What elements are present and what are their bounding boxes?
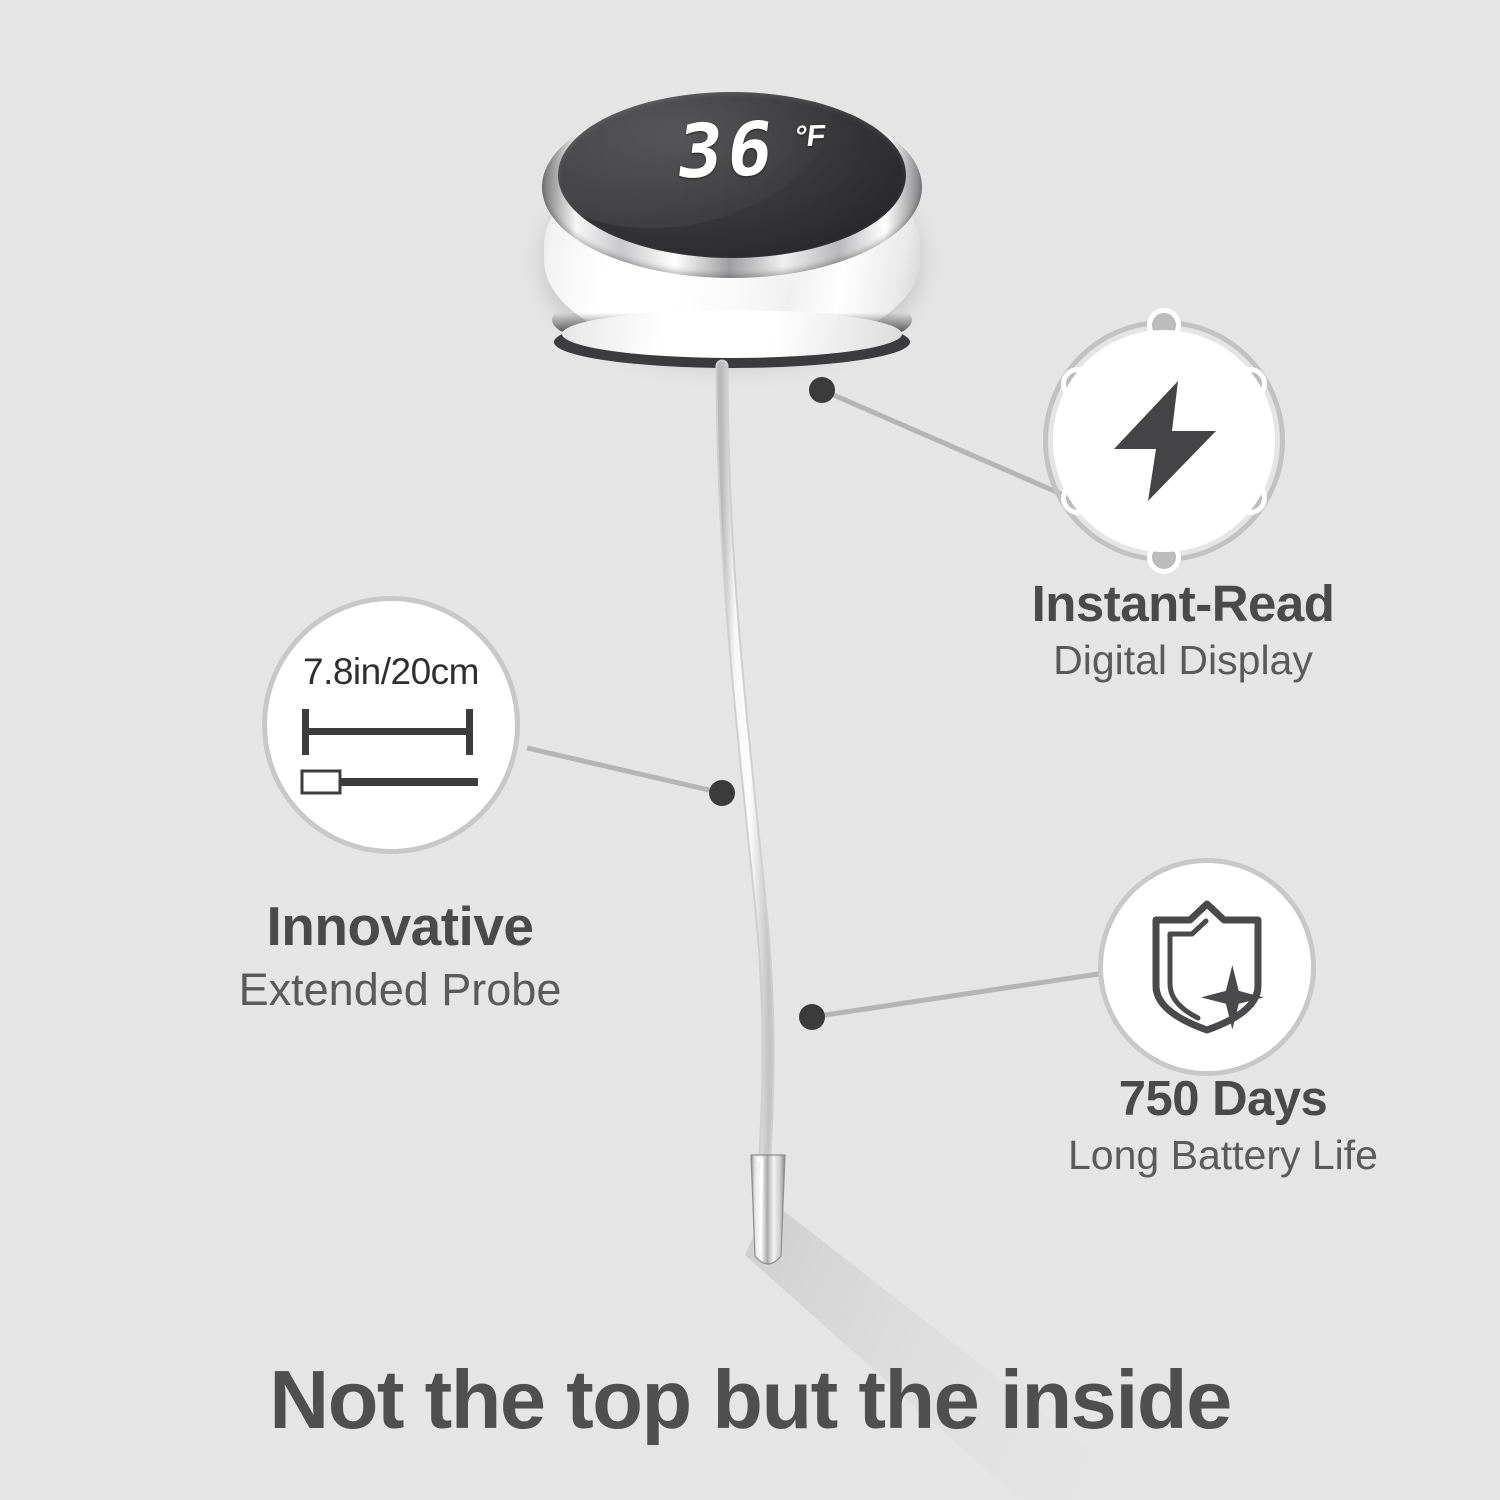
device-glass-top: 36 °F	[558, 92, 906, 258]
feature-title-battery-life: 750 Days	[1013, 1074, 1433, 1125]
product-infographic: 36 °F	[0, 0, 1500, 1500]
device-body-lower	[562, 310, 902, 358]
lightning-bolt-icon	[1104, 377, 1224, 505]
feature-subtitle-instant-read: Digital Display	[968, 638, 1398, 684]
probe-shadow	[745, 1200, 1180, 1500]
instant-read-icon-circle	[1053, 330, 1275, 552]
anchor-dot-battery	[799, 1004, 825, 1030]
leader-line-battery	[812, 973, 1105, 1017]
feature-title-extended-probe: Innovative	[150, 898, 650, 955]
probe-dimension-label: 7.8in/20cm	[303, 651, 479, 693]
feature-instant-read: Instant-Read Digital Display	[968, 577, 1398, 684]
temperature-unit: °F	[793, 119, 828, 154]
feature-subtitle-battery-life: Long Battery Life	[1013, 1133, 1433, 1179]
probe-tip-highlight	[757, 1160, 762, 1252]
leader-line-instant-read	[822, 390, 1075, 500]
anchor-dot-instant-read	[809, 377, 835, 403]
feature-extended-probe: Innovative Extended Probe	[150, 898, 650, 1016]
probe-dimension-icon	[298, 707, 484, 799]
feature-subtitle-extended-probe: Extended Probe	[150, 965, 650, 1015]
leader-line-extended-probe	[527, 748, 722, 793]
temperature-value: 36	[673, 115, 781, 186]
shield-sparkle-icon	[1146, 900, 1268, 1034]
anchor-dot-extended-probe	[709, 780, 735, 806]
battery-life-icon-circle	[1098, 858, 1316, 1076]
headline-text: Not the top but the inside	[0, 1352, 1500, 1448]
probe-tip	[751, 1155, 785, 1264]
feature-title-instant-read: Instant-Read	[968, 577, 1398, 630]
thermometer-device: 36 °F	[536, 88, 928, 368]
probe-cable-outline	[722, 366, 768, 1168]
probe-cable	[722, 366, 768, 1168]
feature-battery-life: 750 Days Long Battery Life	[1013, 1074, 1433, 1179]
temperature-readout: 36 °F	[673, 113, 828, 186]
extended-probe-icon-circle: 7.8in/20cm	[262, 596, 520, 854]
